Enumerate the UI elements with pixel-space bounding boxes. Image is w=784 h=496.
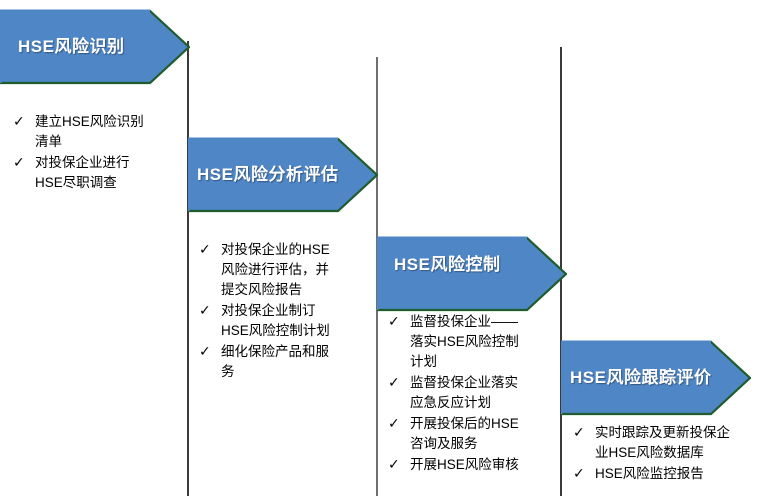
list-item: ✓ 监督投保企业落实 应急反应计划	[385, 373, 561, 413]
list-item: ✓ 对投保企业进行 HSE尽职调查	[10, 153, 182, 193]
stage-arrow-control[interactable]	[377, 236, 567, 312]
check-icon: ✓	[388, 454, 400, 474]
check-icon: ✓	[199, 300, 211, 320]
check-icon: ✓	[388, 372, 400, 392]
check-icon: ✓	[13, 152, 25, 172]
stage-divider-1	[187, 41, 189, 496]
list-item-text: 对投保企业制订 HSE风险控制计划	[221, 301, 372, 341]
check-icon: ✓	[573, 463, 585, 483]
checklist-identify: ✓ 建立HSE风险识别 清单 ✓ 对投保企业进行 HSE尽职调查	[10, 112, 182, 194]
list-item-text: 对投保企业进行 HSE尽职调查	[35, 153, 182, 193]
list-item: ✓ 监督投保企业—— 落实HSE风险控制 计划	[385, 312, 561, 372]
list-item-text: 建立HSE风险识别 清单	[35, 112, 182, 152]
check-icon: ✓	[388, 413, 400, 433]
list-item-text: HSE风险监控报告	[595, 464, 778, 484]
list-item-text: 开展HSE风险审核	[410, 455, 561, 475]
check-icon: ✓	[573, 422, 585, 442]
stage-label-analyze: HSE风险分析评估	[197, 166, 338, 183]
hse-process-diagram: HSE风险识别 ✓ 建立HSE风险识别 清单 ✓ 对投保企业进行 HSE尽职调查…	[0, 0, 784, 496]
list-item: ✓ 对投保企业制订 HSE风险控制计划	[196, 301, 372, 341]
list-item: ✓ 开展HSE风险审核	[385, 455, 561, 475]
stage-label-identify: HSE风险识别	[18, 38, 124, 55]
list-item: ✓ HSE风险监控报告	[570, 464, 778, 484]
check-icon: ✓	[13, 111, 25, 131]
checklist-analyze: ✓ 对投保企业的HSE 风险进行评估，并 提交风险报告 ✓ 对投保企业制订 HS…	[196, 240, 372, 383]
list-item: ✓ 对投保企业的HSE 风险进行评估，并 提交风险报告	[196, 240, 372, 300]
stage-label-control: HSE风险控制	[394, 256, 500, 273]
list-item: ✓ 实时跟踪及更新投保企 业HSE风险数据库	[570, 423, 778, 463]
list-item-text: 细化保险产品和服 务	[221, 342, 372, 382]
list-item: ✓ 开展投保后的HSE 咨询及服务	[385, 414, 561, 454]
stage-label-track: HSE风险跟踪评价	[570, 369, 711, 386]
list-item: ✓ 细化保险产品和服 务	[196, 342, 372, 382]
list-item-text: 开展投保后的HSE 咨询及服务	[410, 414, 561, 454]
checklist-control: ✓ 监督投保企业—— 落实HSE风险控制 计划 ✓ 监督投保企业落实 应急反应计…	[385, 312, 561, 476]
list-item-text: 对投保企业的HSE 风险进行评估，并 提交风险报告	[221, 240, 372, 300]
list-item-text: 实时跟踪及更新投保企 业HSE风险数据库	[595, 423, 778, 463]
list-item-text: 监督投保企业落实 应急反应计划	[410, 373, 561, 413]
check-icon: ✓	[199, 239, 211, 259]
list-item: ✓ 建立HSE风险识别 清单	[10, 112, 182, 152]
checklist-track: ✓ 实时跟踪及更新投保企 业HSE风险数据库 ✓ HSE风险监控报告	[570, 423, 778, 485]
check-icon: ✓	[388, 311, 400, 331]
check-icon: ✓	[199, 341, 211, 361]
list-item-text: 监督投保企业—— 落实HSE风险控制 计划	[410, 312, 561, 372]
